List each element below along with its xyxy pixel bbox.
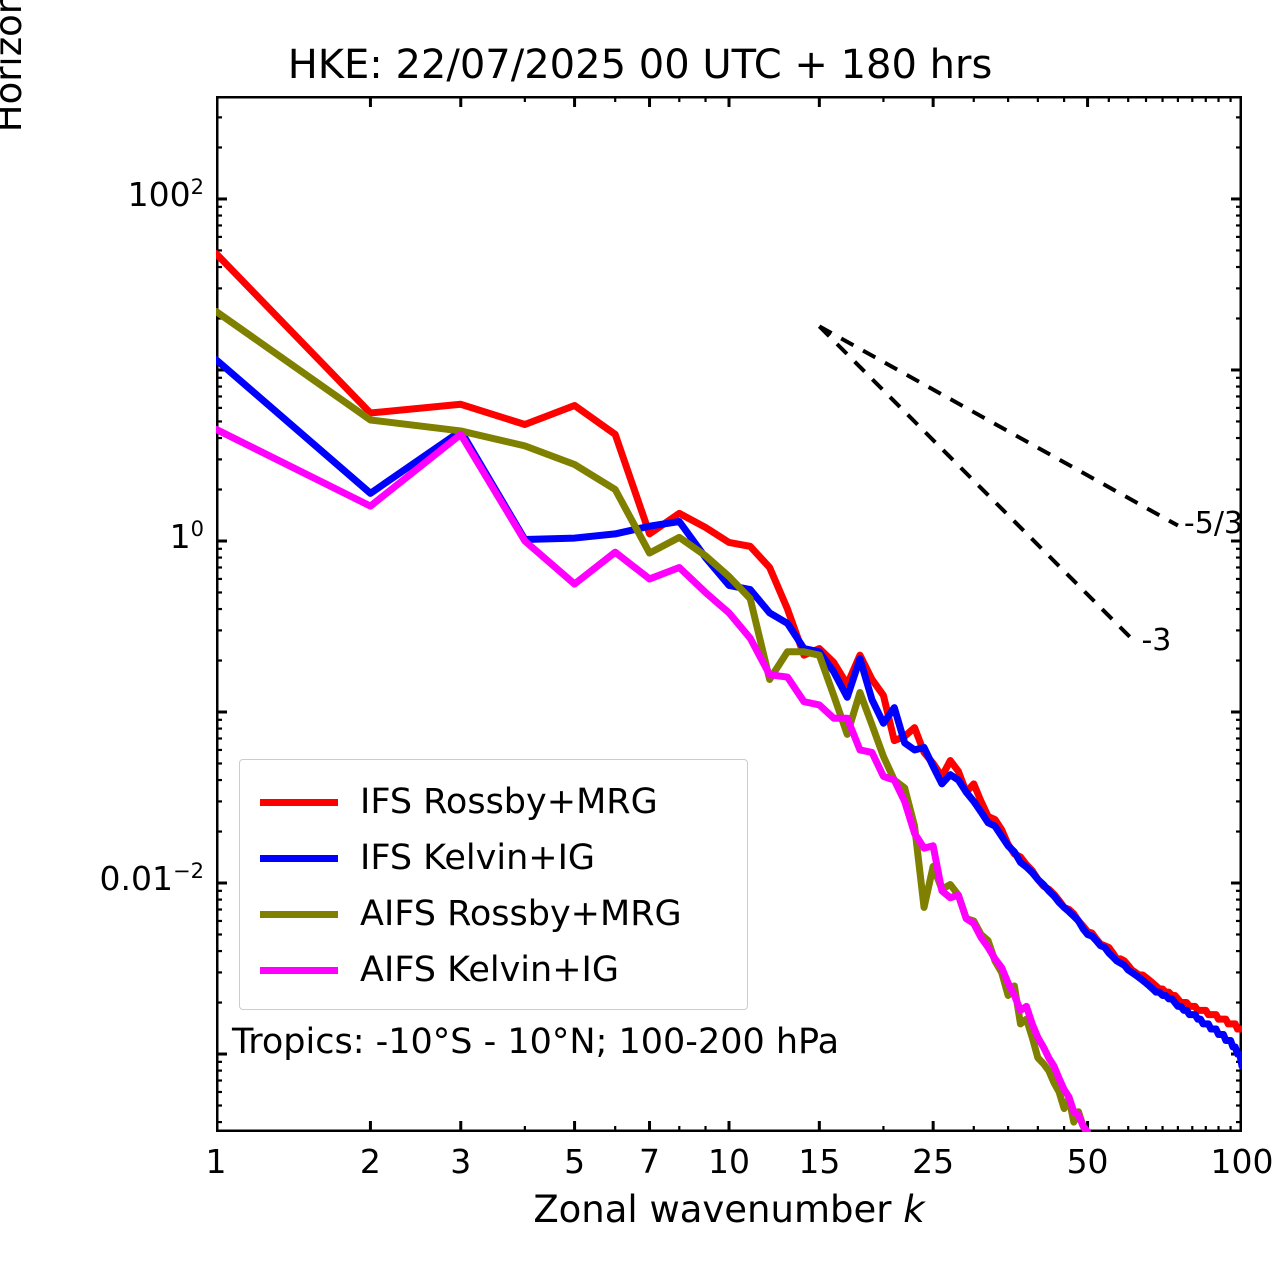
- x-tick-label: 2: [310, 1142, 430, 1181]
- x-tick-label: 25: [873, 1142, 993, 1181]
- x-tick-label: 10: [669, 1142, 789, 1181]
- legend-label-aifs-kelvin-ig: AIFS Kelvin+IG: [360, 950, 619, 990]
- legend-item[interactable]: IFS Rossby+MRG: [240, 774, 747, 830]
- x-axis-label: Zonal wavenumber k: [216, 1188, 1242, 1231]
- x-tick-label: 3: [401, 1142, 521, 1181]
- x-tick-label: 100: [1182, 1142, 1280, 1181]
- legend: IFS Rossby+MRG IFS Kelvin+IG AIFS Rossby…: [239, 759, 748, 1010]
- x-tick-label: 7: [590, 1142, 710, 1181]
- legend-swatch-aifs-rossby-mrg: [260, 911, 338, 918]
- legend-swatch-ifs-kelvin-ig: [260, 855, 338, 862]
- x-tick-label: 5: [515, 1142, 635, 1181]
- legend-label-ifs-kelvin-ig: IFS Kelvin+IG: [360, 838, 595, 878]
- legend-item[interactable]: AIFS Rossby+MRG: [240, 886, 747, 942]
- x-tick-label: 50: [1028, 1142, 1148, 1181]
- y-axis-label-main: Horizontal kinetic energy: [0, 0, 30, 132]
- legend-item[interactable]: AIFS Kelvin+IG: [240, 942, 747, 998]
- legend-swatch-ifs-rossby-mrg: [260, 799, 338, 806]
- legend-label-ifs-rossby-mrg: IFS Rossby+MRG: [360, 782, 658, 822]
- legend-label-aifs-rossby-mrg: AIFS Rossby+MRG: [360, 894, 682, 934]
- x-tick-label: 15: [759, 1142, 879, 1181]
- chart-figure: HKE: 22/07/2025 00 UTC + 180 hrs Horizon…: [0, 0, 1280, 1288]
- legend-item[interactable]: IFS Kelvin+IG: [240, 830, 747, 886]
- x-tick-label: 1: [156, 1142, 276, 1181]
- legend-swatch-aifs-kelvin-ig: [260, 967, 338, 974]
- y-axis-label: Horizontal kinetic energy J/kg: [0, 0, 38, 210]
- y-tick-label: 0.01−2: [100, 859, 204, 898]
- y-tick-label: 1002: [128, 175, 204, 214]
- chart-title: HKE: 22/07/2025 00 UTC + 180 hrs: [0, 42, 1280, 88]
- x-axis-label-main: Zonal wavenumber: [533, 1188, 891, 1231]
- x-axis-label-symbol: k: [903, 1188, 924, 1231]
- slope-label--3: -3: [1141, 623, 1171, 658]
- region-annotation: Tropics: -10°S - 10°N; 100-200 hPa: [232, 1022, 839, 1062]
- slope-label--5-3: -5/3: [1184, 506, 1243, 541]
- y-tick-label: 10: [170, 517, 204, 556]
